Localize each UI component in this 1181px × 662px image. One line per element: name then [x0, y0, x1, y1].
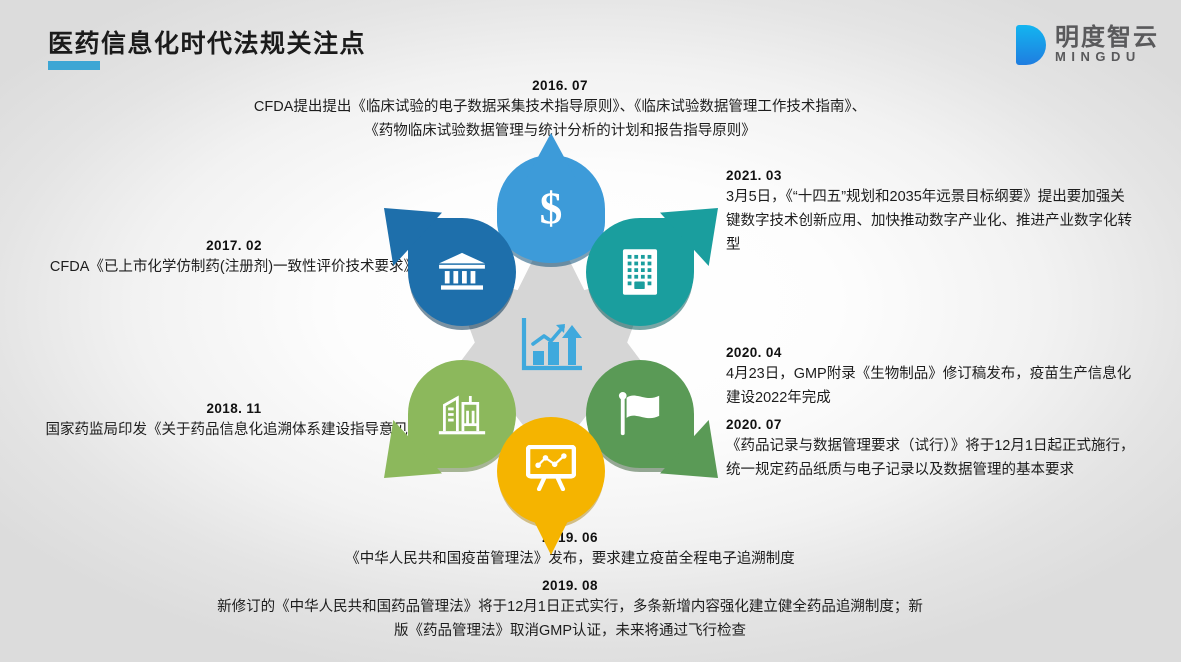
timeline-entry-2020-07: 2020. 07 《药品记录与数据管理要求（试行）》将于12月1日起正式施行，统… — [726, 417, 1138, 483]
title-underline-rule — [48, 61, 100, 70]
page-title: 医药信息化时代法规关注点 — [48, 24, 366, 60]
entry-date: 2019. 06 — [245, 530, 895, 545]
entry-date: 2021. 03 — [726, 168, 1134, 183]
timeline-entry-2019-08: 2019. 08 新修订的《中华人民共和国药品管理法》将于12月1日正式实行，多… — [215, 578, 925, 644]
entry-text: 3月5日，《“十四五”规划和2035年远景目标纲要》提出要加强关键数字技术创新应… — [726, 186, 1134, 258]
entry-text: 4月23日，GMP附录《生物制品》修订稿发布，疫苗生产信息化建设2022年完成 — [726, 363, 1138, 411]
entry-text: 《中华人民共和国疫苗管理法》发布，要求建立疫苗全程电子追溯制度 — [245, 548, 895, 572]
entry-text: 《药品记录与数据管理要求（试行）》将于12月1日起正式施行，统一规定药品纸质与电… — [726, 435, 1138, 483]
logo-wordmark: 明度智云 MINGDU — [1055, 25, 1159, 64]
hexagon-petal-diagram: $ — [386, 155, 716, 530]
growth-chart-icon — [520, 318, 582, 374]
entry-text: CFDA《已上市化学仿制药(注册剂)一致性评价技术要求》 — [34, 256, 434, 280]
timeline-entry-2019-06: 2019. 06 《中华人民共和国疫苗管理法》发布，要求建立疫苗全程电子追溯制度 — [245, 530, 895, 572]
office-building-icon — [613, 245, 667, 299]
entry-date: 2020. 04 — [726, 345, 1138, 360]
logo-chinese-name: 明度智云 — [1055, 25, 1159, 50]
bank-icon — [435, 245, 489, 299]
petal-2017-02[interactable] — [408, 218, 516, 326]
timeline-entry-2018-11: 2018. 11 国家药监局印发《关于药品信息化追溯体系建设指导意见》 — [34, 401, 434, 443]
timeline-entry-2020-04: 2020. 04 4月23日，GMP附录《生物制品》修订稿发布，疫苗生产信息化建… — [726, 345, 1138, 411]
entry-date: 2020. 07 — [726, 417, 1138, 432]
timeline-entry-2021-03: 2021. 03 3月5日，《“十四五”规划和2035年远景目标纲要》提出要加强… — [726, 168, 1134, 258]
timeline-entry-2017-02: 2017. 02 CFDA《已上市化学仿制药(注册剂)一致性评价技术要求》 — [34, 238, 434, 280]
brand-logo: 明度智云 MINGDU — [1016, 22, 1159, 68]
flag-icon — [613, 387, 667, 441]
entry-date: 2019. 08 — [215, 578, 925, 593]
dollar-icon: $ — [524, 182, 578, 236]
city-buildings-icon — [435, 387, 489, 441]
entry-date: 2016. 07 — [250, 78, 870, 93]
entry-text: 新修订的《中华人民共和国药品管理法》将于12月1日正式实行，多条新增内容强化建立… — [215, 596, 925, 644]
entry-text: CFDA提出提出《临床试验的电子数据采集技术指导原则》、《临床试验数据管理工作技… — [250, 96, 870, 144]
presentation-board-icon — [524, 441, 578, 495]
logo-english-name: MINGDU — [1055, 50, 1159, 64]
entry-date: 2018. 11 — [34, 401, 434, 416]
slide: 医药信息化时代法规关注点 明度智云 MINGDU 2016. 07 CFDA提出… — [0, 0, 1181, 662]
petal-2021-03[interactable] — [586, 218, 694, 326]
entry-text: 国家药监局印发《关于药品信息化追溯体系建设指导意见》 — [34, 419, 434, 443]
timeline-entry-2016-07: 2016. 07 CFDA提出提出《临床试验的电子数据采集技术指导原则》、《临床… — [250, 78, 870, 144]
entry-date: 2017. 02 — [34, 238, 434, 253]
petal-2019-06[interactable] — [497, 417, 605, 525]
svg-text:$: $ — [540, 184, 563, 234]
logo-mark-icon — [1016, 25, 1046, 65]
